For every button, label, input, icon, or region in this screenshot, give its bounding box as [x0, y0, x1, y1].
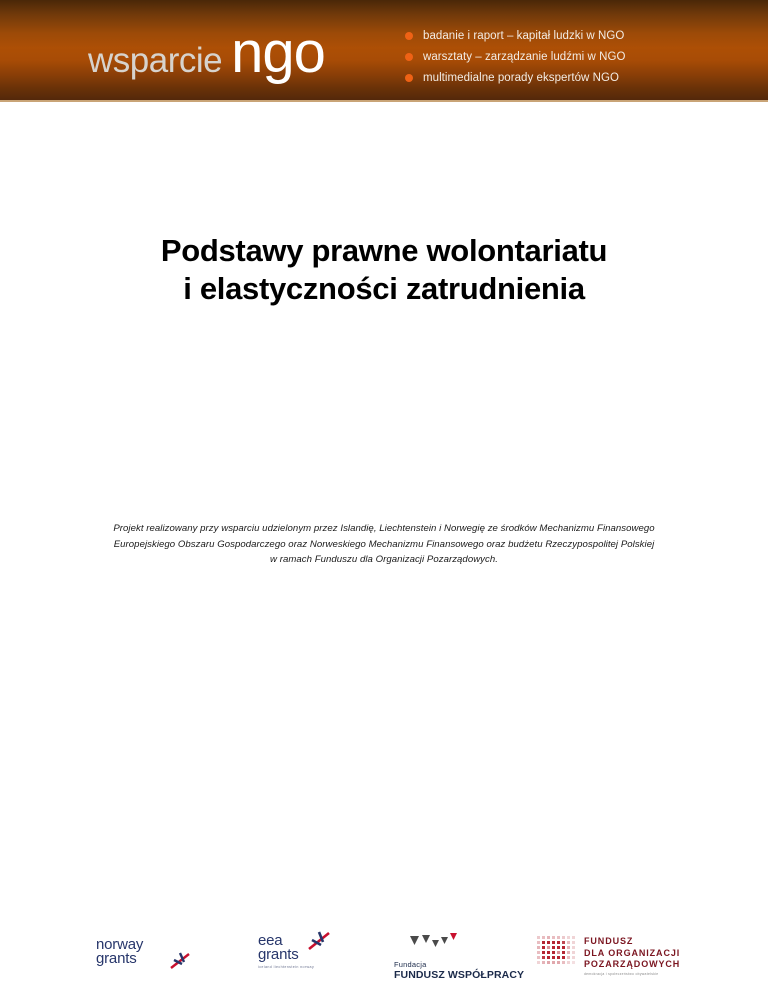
bullet-dot-icon [405, 32, 413, 40]
fdop-wordmark: FUNDUSZ DLA ORGANIZACJI POZARZĄDOWYCH de… [584, 935, 680, 976]
dot-matrix-grid-icon [536, 935, 576, 969]
eea-grants-subtitle: iceland liechtenstein norway [258, 965, 314, 969]
disclaimer-line-3: w ramach Funduszu dla Organizacji Pozarz… [0, 552, 768, 568]
norway-grants-mark-icon [169, 951, 191, 971]
bird-chevrons-icon [408, 932, 464, 952]
norway-grants-line-2: grants [96, 952, 143, 966]
slide-title: Podstawy prawne wolontariatu i elastyczn… [0, 232, 768, 308]
logo-fundusz-wspolpracy: Fundacja FUNDUSZ WSPÓŁPRACY [394, 932, 524, 981]
header-divider [0, 100, 768, 102]
fdop-line-1: FUNDUSZ [584, 936, 680, 948]
fdop-line-2: DLA ORGANIZACJI [584, 948, 680, 960]
header-bullet-list: badanie i raport – kapitał ludzki w NGO … [405, 26, 745, 89]
bullet-dot-icon [405, 74, 413, 82]
slide-title-line-2: i elastyczności zatrudnienia [0, 270, 768, 308]
disclaimer-line-2: Europejskiego Obszaru Gospodarczego oraz… [0, 537, 768, 553]
eea-grants-mark-icon [306, 930, 332, 952]
logo-eea-grants: eea grants iceland liechtenstein norway [258, 934, 314, 969]
funding-disclaimer: Projekt realizowany przy wsparciu udziel… [0, 521, 768, 568]
header-bullet-label: badanie i raport – kapitał ludzki w NGO [423, 30, 624, 42]
header-bullet-item: multimedialne porady ekspertów NGO [405, 68, 745, 87]
header-bullet-label: multimedialne porady ekspertów NGO [423, 72, 619, 84]
fdop-subtitle: demokracja i społeczeństwo obywatelskie [584, 972, 680, 976]
slide-title-line-1: Podstawy prawne wolontariatu [0, 232, 768, 270]
norway-grants-line-1: norway [96, 938, 143, 952]
sponsor-logo-strip: norway grants eea grants iceland liechte… [0, 464, 768, 516]
fundusz-wspolpracy-line-1: Fundacja [394, 960, 524, 969]
header-bullet-label: warsztaty – zarządzanie ludźmi w NGO [423, 51, 625, 63]
brand-wordmark: wsparcie ngo [88, 24, 325, 86]
logo-norway-grants: norway grants [96, 938, 143, 967]
header-bullet-item: badanie i raport – kapitał ludzki w NGO [405, 26, 745, 45]
brand-prefix: wsparcie [88, 43, 222, 78]
fdop-line-3: POZARZĄDOWYCH [584, 959, 680, 971]
logo-fundusz-dla-organizacji-pozarzadowych: FUNDUSZ DLA ORGANIZACJI POZARZĄDOWYCH de… [536, 935, 680, 976]
brand-main: ngo [231, 24, 325, 82]
fundusz-wspolpracy-line-2: FUNDUSZ WSPÓŁPRACY [394, 969, 524, 981]
bullet-dot-icon [405, 53, 413, 61]
disclaimer-line-1: Projekt realizowany przy wsparciu udziel… [0, 521, 768, 537]
header-bullet-item: warsztaty – zarządzanie ludźmi w NGO [405, 47, 745, 66]
header-banner: wsparcie ngo badanie i raport – kapitał … [0, 0, 768, 100]
